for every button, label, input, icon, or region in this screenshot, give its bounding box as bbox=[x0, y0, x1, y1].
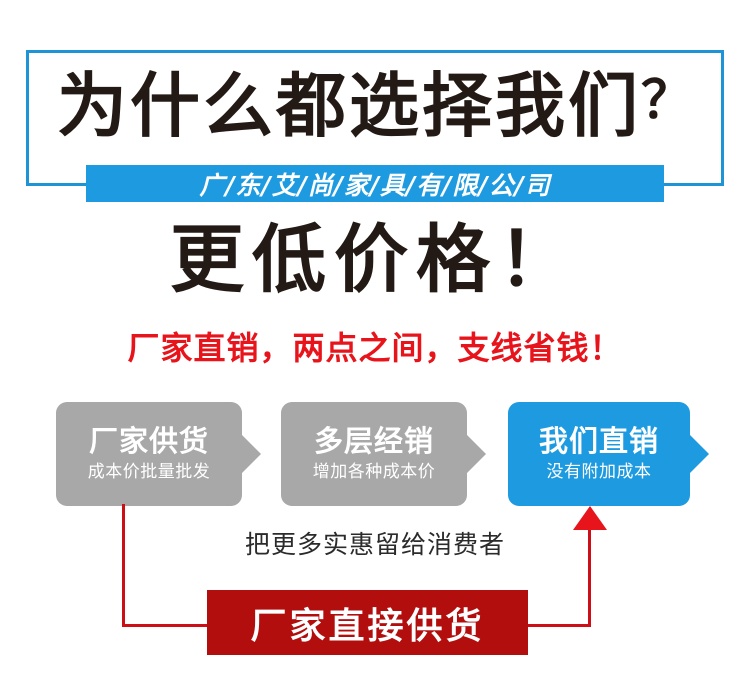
consumer-note: 把更多实惠留给消费者 bbox=[0, 528, 750, 562]
question-headline: 为什么都选择我们？ bbox=[0, 58, 750, 149]
flow-box-manufacturer: 厂家供货 成本价批量批发 bbox=[56, 402, 242, 506]
flow-box-subtitle: 成本价批量批发 bbox=[88, 459, 211, 485]
connector-line-left-vertical bbox=[122, 504, 125, 627]
direct-supply-banner: 厂家直接供货 bbox=[207, 590, 528, 655]
flow-box-title: 厂家供货 bbox=[89, 423, 209, 459]
chevron-right-icon bbox=[466, 434, 486, 474]
tagline: 厂家直销，两点之间，支线省钱！ bbox=[0, 327, 750, 369]
company-name-text: 广/东/艾/尚/家/具/有/限/公/司 bbox=[199, 166, 550, 202]
flow-box-subtitle: 增加各种成本价 bbox=[313, 459, 436, 485]
chevron-right-icon bbox=[689, 434, 709, 474]
flow-box-distributors: 多层经销 增加各种成本价 bbox=[281, 402, 467, 506]
price-headline: 更低价格！ bbox=[0, 212, 750, 308]
question-mark: ？ bbox=[641, 71, 693, 131]
chevron-right-icon bbox=[241, 434, 261, 474]
promo-banner: 为什么都选择我们？ 广/东/艾/尚/家/具/有/限/公/司 更低价格！ 厂家直销… bbox=[0, 0, 750, 678]
flow-box-title: 我们直销 bbox=[539, 423, 659, 459]
arrow-up-icon bbox=[573, 506, 607, 530]
flow-box-subtitle: 没有附加成本 bbox=[547, 459, 652, 485]
flow-box-direct-sales: 我们直销 没有附加成本 bbox=[508, 402, 690, 506]
direct-supply-banner-text: 厂家直接供货 bbox=[250, 597, 484, 649]
flow-box-title: 多层经销 bbox=[314, 423, 434, 459]
question-headline-text: 为什么都选择我们 bbox=[57, 65, 641, 147]
company-name-bar: 广/东/艾/尚/家/具/有/限/公/司 bbox=[86, 165, 664, 202]
